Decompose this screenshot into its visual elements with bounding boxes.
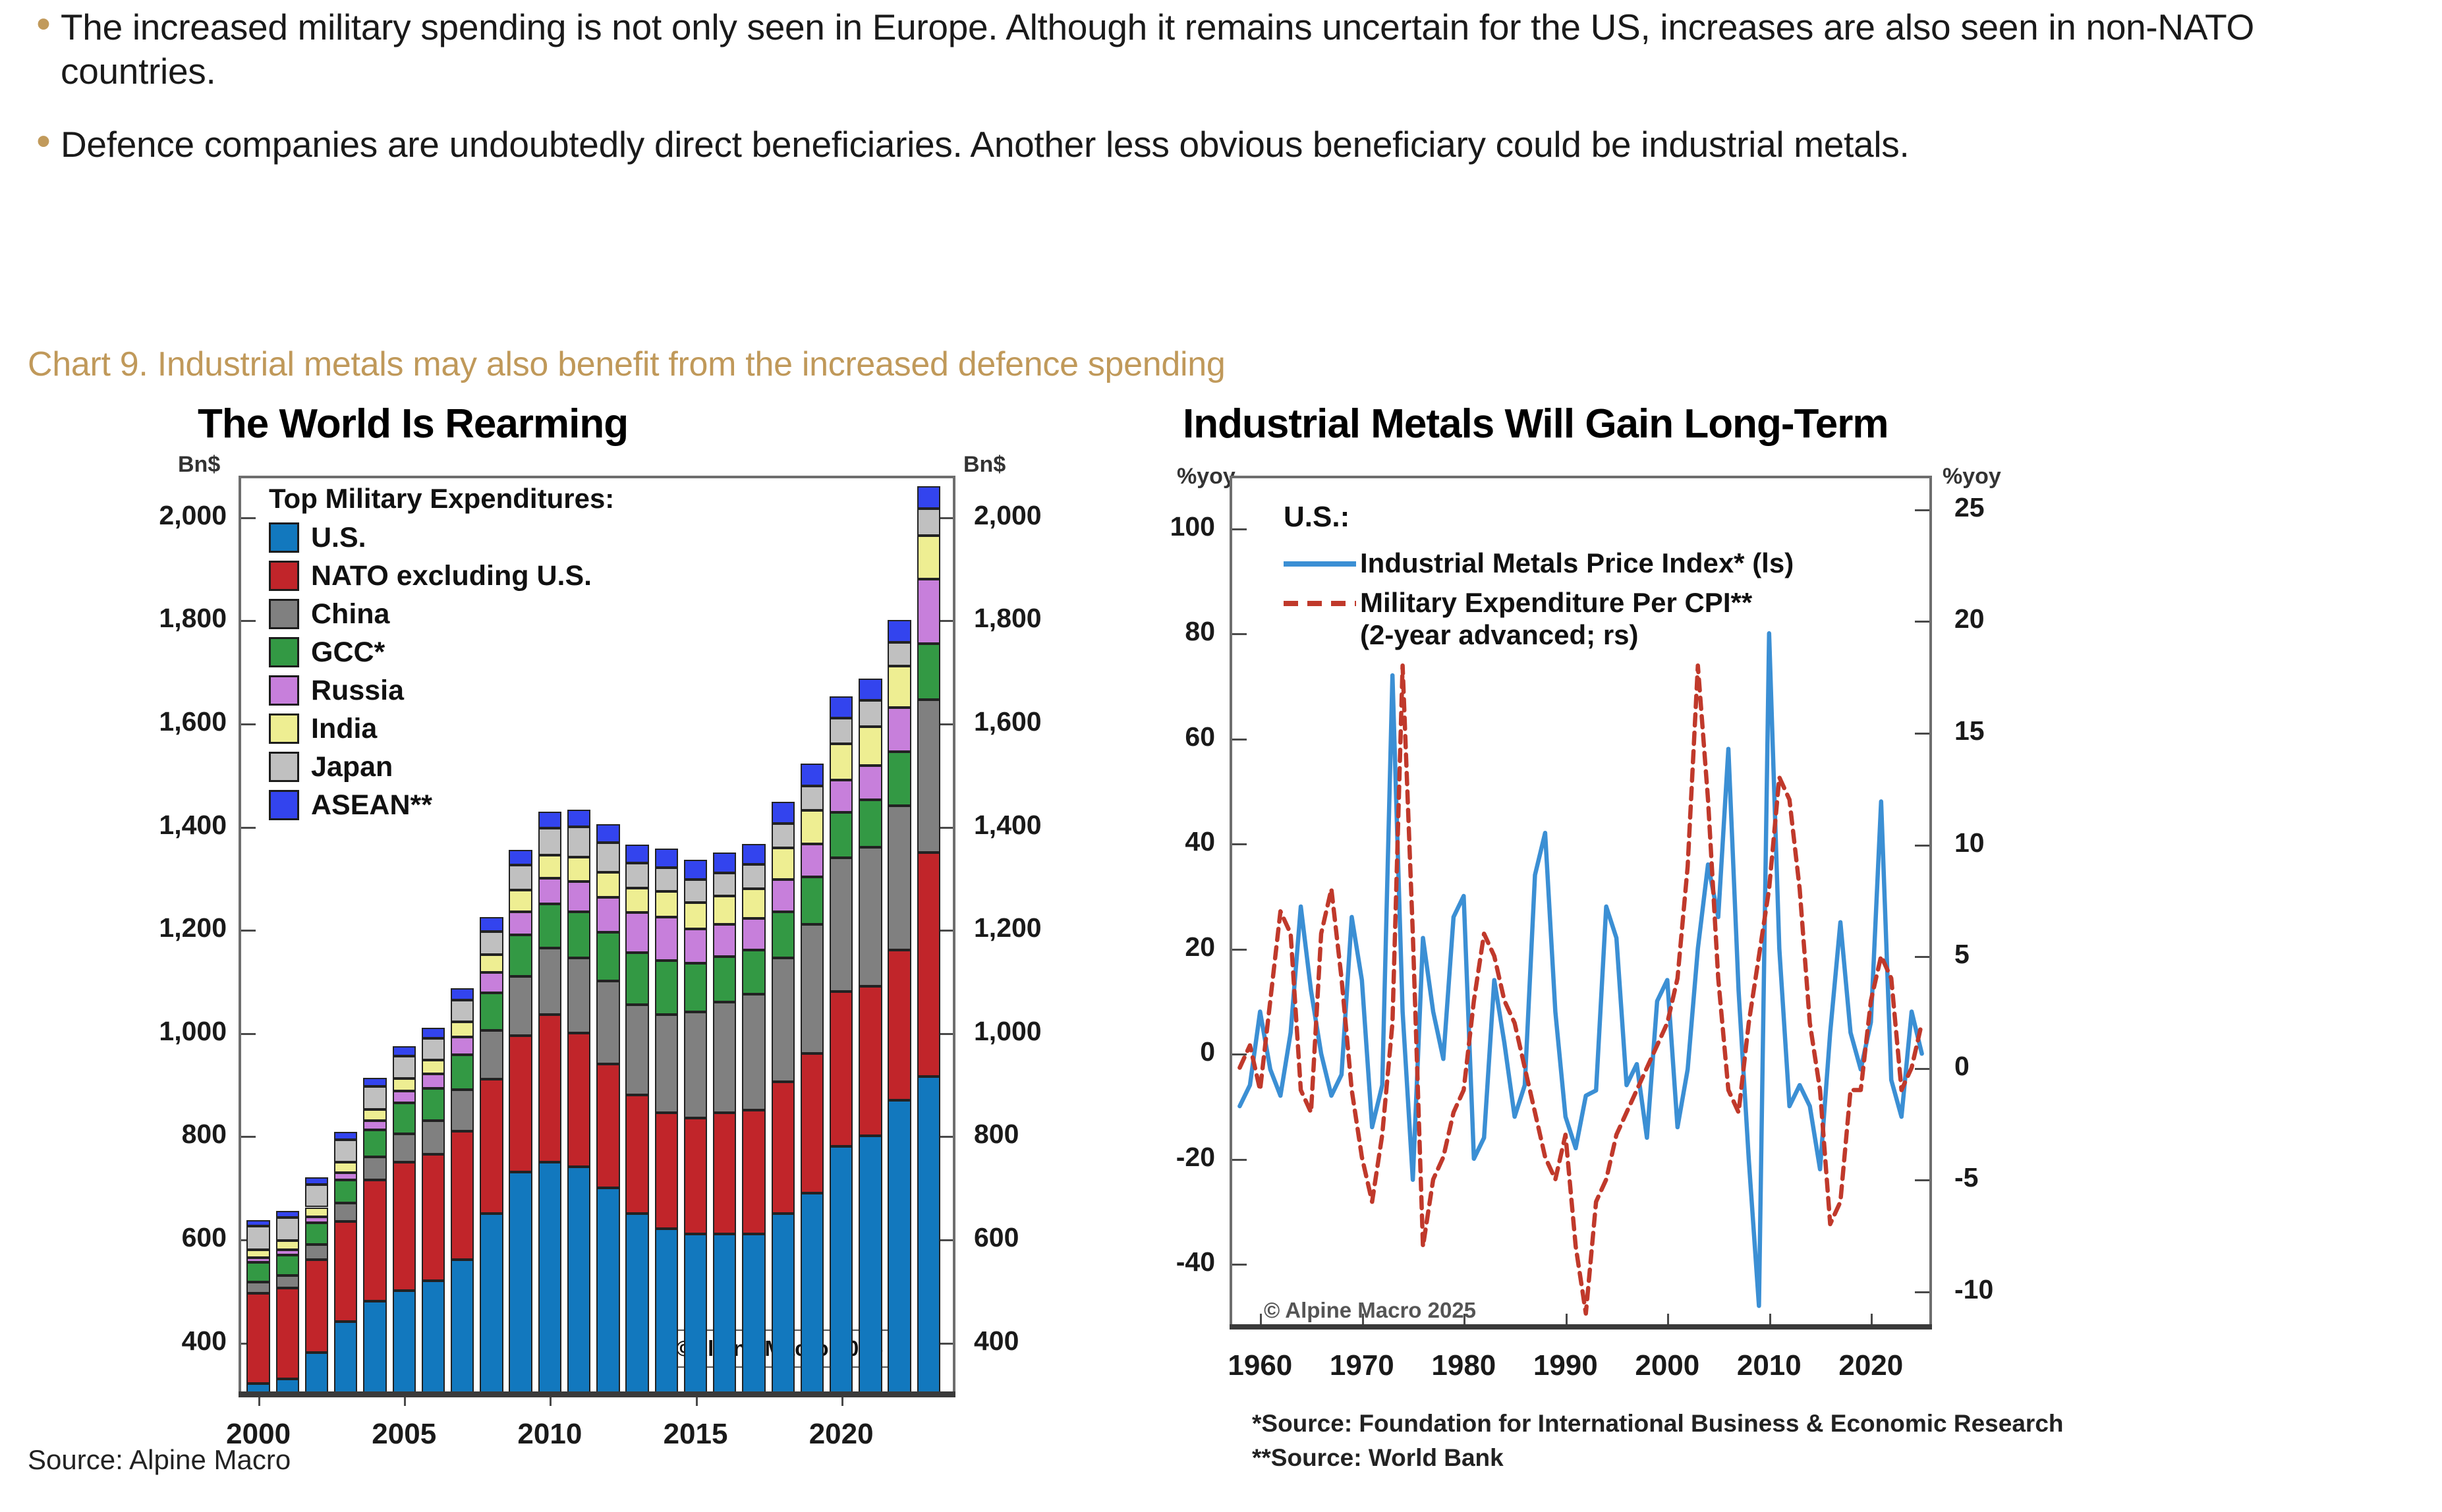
bar-segment	[596, 1188, 619, 1393]
legend-item-label-line2: (2-year advanced; rs)	[1360, 619, 1639, 650]
bar-segment	[801, 924, 824, 1053]
y2-axis-tick	[1915, 956, 1929, 958]
bar-segment	[363, 1130, 386, 1157]
bar-segment	[276, 1255, 299, 1275]
bar-segment	[276, 1288, 299, 1378]
bar-segment	[888, 642, 911, 666]
bar-segment	[363, 1078, 386, 1086]
bar-segment	[509, 935, 532, 976]
bar-segment	[684, 860, 707, 880]
bar-segment	[917, 486, 940, 509]
y2-axis-tick	[1915, 845, 1929, 847]
x-axis-tick-label: 1980	[1431, 1349, 1496, 1382]
y-axis-tick-label: 1,800	[159, 603, 227, 634]
bar-segment	[393, 1078, 416, 1092]
bar-segment	[655, 868, 678, 891]
bar-segment	[684, 1118, 707, 1234]
bullet-text: The increased military spending is not o…	[61, 5, 2418, 94]
legend-item-russia: Russia	[269, 671, 614, 710]
bar-segment	[509, 850, 532, 865]
bar-segment	[772, 1082, 795, 1214]
y2-axis-tick	[1915, 509, 1929, 511]
y-axis-tick-label: 400	[182, 1326, 227, 1357]
legend-item-nato-excluding-u-s: NATO excluding U.S.	[269, 557, 614, 595]
bar-segment	[684, 1012, 707, 1118]
x-axis-baseline	[239, 1391, 955, 1397]
left-chart-title: The World Is Rearming	[198, 401, 628, 447]
legend-item-label: Industrial Metals Price Index* (ls)	[1360, 547, 1794, 580]
x-axis-tick-label: 2020	[809, 1418, 874, 1451]
bar-segment	[451, 1000, 474, 1021]
bar-segment	[655, 961, 678, 1015]
bar-segment	[917, 644, 940, 700]
right-chart-title: Industrial Metals Will Gain Long-Term	[1183, 401, 1888, 447]
bar-segment	[509, 976, 532, 1036]
legend-item-label: Russia	[311, 675, 404, 707]
bar-segment	[596, 897, 619, 932]
bar-segment	[742, 994, 765, 1110]
bar-segment	[625, 953, 648, 1004]
bar-segment	[859, 679, 882, 700]
bar-segment	[480, 972, 503, 993]
y-axis-tick-label-right: 1,200	[974, 912, 1042, 943]
bar-segment	[713, 1002, 736, 1113]
right-chart-y-unit-left: %yoy	[1177, 464, 1235, 490]
bar-segment	[625, 1095, 648, 1214]
bullet-marker-icon: •	[26, 5, 61, 43]
bar-segment	[393, 1291, 416, 1393]
bar-segment	[917, 536, 940, 579]
bar-segment	[859, 700, 882, 727]
bar-segment	[655, 891, 678, 917]
bar-segment	[888, 620, 911, 642]
bar-segment	[393, 1046, 416, 1056]
y-axis-tick-label: 1,000	[159, 1016, 227, 1047]
legend-item-india: India	[269, 710, 614, 748]
left-chart-legend: Top Military Expenditures: U.S.NATO excl…	[269, 483, 614, 824]
bar-segment	[772, 1214, 795, 1393]
bar-segment	[422, 1038, 445, 1060]
x-axis-tick-label: 2010	[1737, 1349, 1802, 1382]
y-axis-tick	[241, 517, 256, 519]
bar-segment	[596, 1064, 619, 1188]
bar-segment	[538, 948, 561, 1015]
bar-segment	[684, 1234, 707, 1393]
y2-axis-tick-label: -5	[1954, 1162, 1978, 1193]
bar-segment	[363, 1121, 386, 1130]
legend-item-label: India	[311, 713, 377, 745]
bar-segment	[859, 727, 882, 766]
x-axis-tick-label: 2020	[1838, 1349, 1903, 1382]
bar-segment	[567, 857, 590, 882]
y-axis-tick	[241, 827, 256, 829]
bar-segment	[713, 873, 736, 896]
legend-item-u-s: U.S.	[269, 518, 614, 557]
bar-segment	[655, 1015, 678, 1113]
bar-segment	[801, 1053, 824, 1192]
bar-segment	[480, 993, 503, 1030]
bar-segment	[567, 958, 590, 1033]
legend-item-label: China	[311, 598, 389, 630]
bar-segment	[567, 912, 590, 958]
legend-item-label: U.S.	[311, 522, 366, 554]
legend-swatch-icon	[269, 599, 299, 629]
legend-swatch-icon	[269, 561, 299, 591]
y-axis-tick-label: 20	[1185, 932, 1215, 963]
y-axis-tick	[938, 930, 953, 932]
bar-segment	[917, 509, 940, 536]
y-axis-tick-label-right: 800	[974, 1119, 1019, 1150]
bar-segment	[917, 700, 940, 853]
y2-axis-tick	[1915, 621, 1929, 623]
bar-segment	[393, 1134, 416, 1162]
bar-segment	[509, 912, 532, 935]
y2-axis-tick-label: -10	[1954, 1274, 1993, 1305]
legend-item-military: Military Expenditure Per CPI** (2-year a…	[1284, 586, 1794, 652]
bar-segment	[363, 1086, 386, 1109]
bar-segment	[801, 786, 824, 811]
bar-segment	[451, 1037, 474, 1055]
bar-segment	[480, 1079, 503, 1214]
y-axis-tick-label: 1,400	[159, 810, 227, 841]
bar-segment	[567, 810, 590, 827]
y2-axis-tick-label: 0	[1954, 1051, 1970, 1082]
bar-segment	[305, 1185, 328, 1207]
left-chart-y-unit-right: Bn$	[963, 452, 1006, 478]
bar-segment	[393, 1103, 416, 1134]
bar-segment	[393, 1056, 416, 1078]
bar-segment	[830, 780, 853, 812]
bar-segment	[334, 1140, 357, 1162]
bar-segment	[801, 1193, 824, 1393]
bar-segment	[888, 950, 911, 1100]
y-axis-tick-label: 2,000	[159, 500, 227, 531]
y-axis-tick	[241, 1136, 256, 1138]
y-axis-tick	[1232, 949, 1247, 951]
legend-item-label: Japan	[311, 751, 393, 783]
bar-segment	[801, 764, 824, 786]
bar-segment	[305, 1245, 328, 1260]
bar-segment	[509, 1036, 532, 1173]
y-axis-tick	[241, 620, 256, 622]
bar-segment	[334, 1203, 357, 1221]
bar-segment	[859, 847, 882, 986]
y-axis-tick	[938, 1033, 953, 1035]
dashed-line-swatch-icon	[1284, 586, 1360, 606]
bar-segment	[305, 1223, 328, 1245]
x-axis-tick-label: 2010	[517, 1418, 582, 1451]
bar-segment	[772, 824, 795, 848]
y-axis-tick	[241, 1033, 256, 1035]
bar-segment	[334, 1221, 357, 1322]
y-axis-tick	[938, 723, 953, 725]
y-axis-tick-label: 40	[1185, 826, 1215, 857]
bar-segment	[859, 766, 882, 800]
legend-title: U.S.:	[1284, 501, 1794, 534]
bar-segment	[334, 1322, 357, 1393]
legend-item-label: Military Expenditure Per CPI** (2-year a…	[1360, 586, 1752, 652]
y-axis-tick-label-right: 1,800	[974, 603, 1042, 634]
y-axis-tick-label-right: 600	[974, 1222, 1019, 1253]
right-chart-source-2: **Source: World Bank	[1252, 1444, 1504, 1472]
bar-segment	[567, 1033, 590, 1167]
bar-segment	[801, 844, 824, 877]
y-axis-tick-label-right: 2,000	[974, 500, 1042, 531]
y-axis-tick-label: -20	[1176, 1142, 1215, 1173]
bar-segment	[422, 1281, 445, 1393]
bar-segment	[538, 855, 561, 878]
bar-segment	[422, 1154, 445, 1281]
y-axis-tick-label: 800	[182, 1119, 227, 1150]
bar-segment	[772, 880, 795, 912]
legend-swatch-icon	[269, 714, 299, 744]
list-item: • The increased military spending is not…	[26, 5, 2418, 94]
bar-segment	[859, 800, 882, 847]
y-axis-tick-label-right: 1,400	[974, 810, 1042, 841]
legend-swatch-icon	[269, 675, 299, 706]
bar-segment	[305, 1177, 328, 1185]
bar-segment	[422, 1121, 445, 1154]
bar-segment	[625, 863, 648, 888]
bar-segment	[684, 903, 707, 930]
x-axis-tick-label: 2000	[226, 1418, 291, 1451]
bar-segment	[801, 877, 824, 924]
bar-segment	[772, 912, 795, 958]
bar-segment	[830, 1146, 853, 1393]
bar-segment	[625, 845, 648, 863]
bar-segment	[655, 1113, 678, 1229]
bar-segment	[801, 810, 824, 844]
bar-segment	[713, 924, 736, 957]
bar-segment	[276, 1218, 299, 1241]
legend-swatch-icon	[269, 752, 299, 782]
y-axis-tick-label-right: 1,600	[974, 706, 1042, 737]
bar-segment	[713, 1113, 736, 1234]
bar-segment	[538, 828, 561, 855]
bar-segment	[684, 963, 707, 1012]
bar-segment	[480, 932, 503, 955]
bar-segment	[888, 666, 911, 708]
bar-segment	[567, 1167, 590, 1393]
right-chart-source-1: *Source: Foundation for International Bu…	[1252, 1410, 2064, 1438]
y-axis-tick-label-right: 1,000	[974, 1016, 1042, 1047]
bar-segment	[276, 1211, 299, 1218]
bar-segment	[742, 1110, 765, 1234]
bar-segment	[480, 1214, 503, 1393]
y-axis-tick	[1232, 843, 1247, 845]
bar-segment	[276, 1275, 299, 1289]
bar-segment	[655, 1229, 678, 1393]
bar-segment	[451, 988, 474, 1001]
bar-segment	[917, 579, 940, 644]
legend-item-label-line1: Military Expenditure Per CPI**	[1360, 587, 1752, 618]
bar-segment	[713, 957, 736, 1002]
bar-segment	[246, 1220, 270, 1226]
y-axis-tick	[938, 517, 953, 519]
x-axis-tick-label: 1990	[1533, 1349, 1598, 1382]
bar-segment	[305, 1353, 328, 1393]
bar-segment	[509, 865, 532, 890]
legend-swatch-icon	[269, 637, 299, 667]
bullet-list: • The increased military spending is not…	[26, 5, 2418, 196]
bar-segment	[246, 1226, 270, 1249]
y2-axis-tick	[1915, 733, 1929, 735]
y-axis-tick	[938, 1136, 953, 1138]
bar-segment	[246, 1258, 270, 1262]
bar-segment	[451, 1131, 474, 1260]
bar-segment	[363, 1109, 386, 1121]
y-axis-tick	[1232, 633, 1247, 635]
legend-item-label: NATO excluding U.S.	[311, 560, 592, 592]
bar-segment	[713, 1234, 736, 1393]
y2-axis-tick-label: 5	[1954, 939, 1970, 970]
legend-item-label: ASEAN**	[311, 789, 432, 822]
bar-segment	[538, 878, 561, 904]
bar-segment	[246, 1293, 270, 1384]
bar-segment	[830, 696, 853, 718]
y-axis-tick-label: 600	[182, 1222, 227, 1253]
y-axis-tick-label: 0	[1200, 1036, 1215, 1067]
y2-axis-tick-label: 10	[1954, 827, 1985, 858]
bar-segment	[596, 872, 619, 897]
bar-segment	[917, 853, 940, 1077]
y-axis-tick-label: 1,600	[159, 706, 227, 737]
bar-segment	[713, 896, 736, 924]
bar-segment	[246, 1282, 270, 1293]
bar-segment	[363, 1180, 386, 1301]
bar-segment	[480, 917, 503, 932]
bar-segment	[480, 955, 503, 972]
bar-segment	[742, 918, 765, 951]
bar-segment	[509, 890, 532, 912]
y-axis-tick	[241, 723, 256, 725]
x-axis-tick-label: 1970	[1330, 1349, 1394, 1382]
x-axis-tick-label: 2005	[372, 1418, 436, 1451]
y-axis-tick	[1232, 1159, 1247, 1161]
x-axis-tick-label: 2000	[1635, 1349, 1699, 1382]
bar-segment	[596, 932, 619, 981]
bar-segment	[625, 1214, 648, 1393]
bar-segment	[830, 718, 853, 744]
bar-segment	[888, 806, 911, 950]
y2-axis-tick-label: 15	[1954, 715, 1985, 746]
bar-segment	[742, 1234, 765, 1393]
bar-segment	[713, 853, 736, 873]
y-axis-tick-label: 1,200	[159, 912, 227, 943]
right-chart-y-unit-right: %yoy	[1943, 464, 2001, 490]
y-axis-tick	[1232, 739, 1247, 741]
bar-segment	[596, 843, 619, 872]
bar-segment	[246, 1250, 270, 1258]
legend-item-gcc: GCC*	[269, 633, 614, 671]
legend-item-label: GCC*	[311, 636, 385, 669]
chart-caption: Chart 9. Industrial metals may also bene…	[28, 345, 1226, 384]
bar-segment	[742, 864, 765, 888]
bar-segment	[772, 958, 795, 1082]
legend-item-metals: Industrial Metals Price Index* (ls)	[1284, 547, 1794, 580]
bar-segment	[684, 880, 707, 902]
bullet-text: Defence companies are undoubtedly direct…	[61, 123, 1909, 167]
y-axis-tick	[938, 1239, 953, 1241]
bar-segment	[655, 849, 678, 868]
bar-segment	[567, 882, 590, 911]
bar-segment	[305, 1208, 328, 1217]
bar-segment	[276, 1250, 299, 1255]
bar-segment	[538, 1015, 561, 1162]
x-axis-tick-label: 1960	[1228, 1349, 1292, 1382]
y2-axis-tick	[1915, 1068, 1929, 1070]
bar-segment	[363, 1157, 386, 1180]
bar-segment	[625, 912, 648, 953]
bar-segment	[859, 986, 882, 1136]
y-axis-tick-label: -40	[1176, 1246, 1215, 1277]
left-chart-y-unit-left: Bn$	[178, 452, 220, 478]
bar-segment	[393, 1091, 416, 1102]
bar-segment	[596, 981, 619, 1063]
bar-segment	[334, 1173, 357, 1180]
bar-segment	[655, 917, 678, 961]
bar-segment	[830, 992, 853, 1146]
legend-swatch-icon	[269, 790, 299, 820]
y2-axis-tick	[1915, 1291, 1929, 1293]
bar-segment	[742, 844, 765, 864]
bar-segment	[888, 1100, 911, 1393]
bar-segment	[422, 1074, 445, 1088]
y-axis-tick	[1232, 1264, 1247, 1266]
bar-segment	[830, 744, 853, 780]
right-chart-copyright: © Alpine Macro 2025	[1264, 1298, 1476, 1323]
list-item: • Defence companies are undoubtedly dire…	[26, 123, 2418, 167]
bar-segment	[451, 1260, 474, 1393]
legend-item-china: China	[269, 595, 614, 633]
bar-segment	[596, 824, 619, 843]
bar-segment	[363, 1301, 386, 1393]
bar-segment	[451, 1055, 474, 1090]
bar-segment	[480, 1030, 503, 1079]
bar-segment	[305, 1217, 328, 1223]
bar-segment	[509, 1172, 532, 1393]
legend-item-japan: Japan	[269, 748, 614, 786]
x-axis-baseline	[1230, 1324, 1932, 1330]
solid-line-swatch-icon	[1284, 547, 1360, 567]
bar-segment	[422, 1088, 445, 1121]
bar-segment	[830, 858, 853, 992]
y-axis-tick	[938, 1343, 953, 1345]
y-axis-tick	[938, 827, 953, 829]
y-axis-tick-label: 80	[1185, 616, 1215, 647]
y-axis-tick	[1232, 1053, 1247, 1055]
bar-segment	[830, 812, 853, 858]
legend-title: Top Military Expenditures:	[269, 483, 614, 515]
bar-segment	[422, 1060, 445, 1074]
bar-segment	[772, 848, 795, 880]
y-axis-tick	[1232, 528, 1247, 530]
bar-segment	[567, 827, 590, 856]
bar-segment	[888, 708, 911, 752]
right-chart-legend: U.S.: Industrial Metals Price Index* (ls…	[1284, 501, 1794, 658]
y-axis-tick	[938, 620, 953, 622]
y-axis-tick-label-right: 400	[974, 1326, 1019, 1357]
bar-segment	[625, 1005, 648, 1095]
bar-segment	[625, 888, 648, 913]
y-axis-tick-label: 60	[1185, 721, 1215, 752]
bar-segment	[334, 1180, 357, 1203]
bar-segment	[334, 1162, 357, 1173]
bar-segment	[538, 904, 561, 948]
bar-segment	[334, 1132, 357, 1140]
bar-segment	[742, 889, 765, 918]
bar-segment	[422, 1028, 445, 1038]
